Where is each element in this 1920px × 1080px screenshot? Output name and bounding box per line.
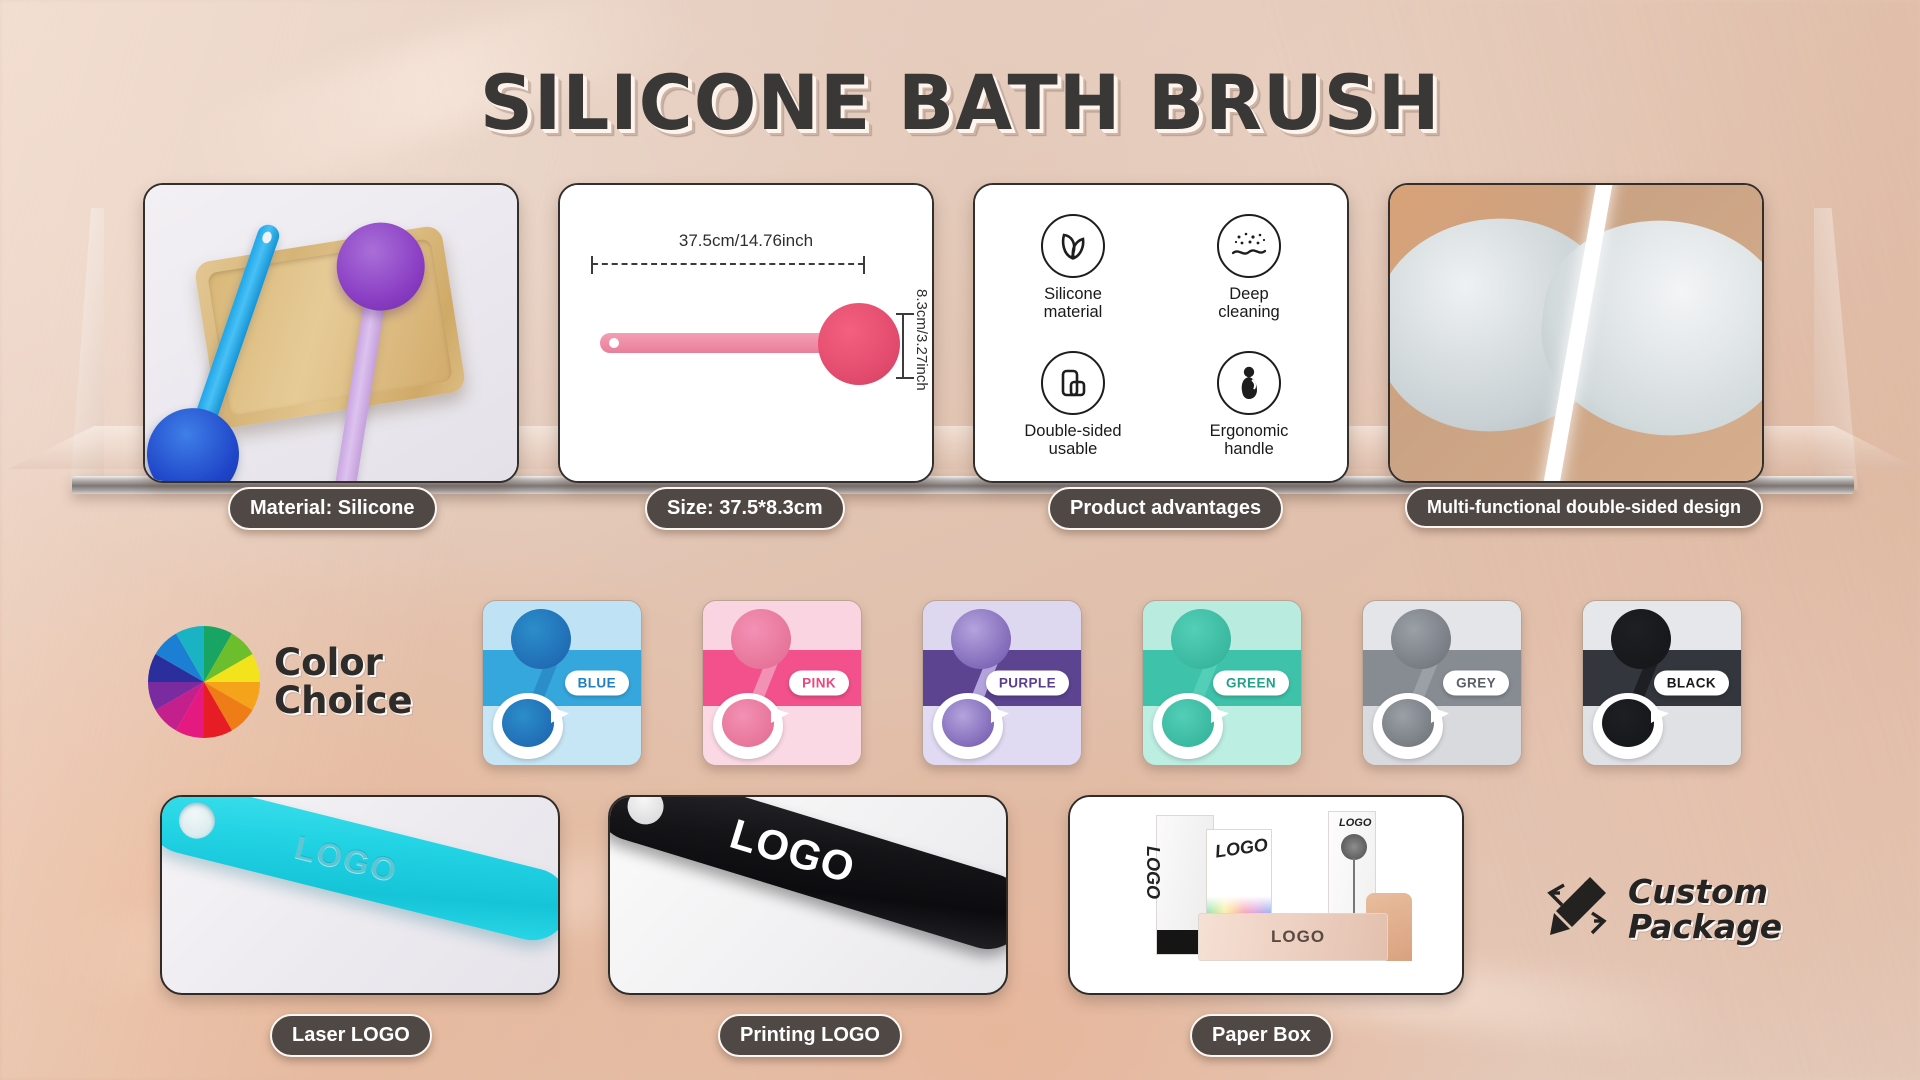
color-swatch-row: BLUEPINKPURPLEGREENGREYBLACK bbox=[0, 600, 1920, 770]
swatch-detail-bubble bbox=[1593, 693, 1663, 759]
swatch-brush-head bbox=[731, 609, 791, 669]
swatch-detail-brush bbox=[1382, 699, 1434, 747]
swatch-brush-head bbox=[1171, 609, 1231, 669]
swatch-label: GREEN bbox=[1213, 671, 1289, 696]
swatch-label: PINK bbox=[789, 671, 849, 696]
swatch-detail-brush bbox=[942, 699, 994, 747]
advantage-line2: usable bbox=[1049, 440, 1098, 458]
custom-package-block: Custom Package bbox=[1540, 855, 1870, 965]
advantage-line2: material bbox=[1044, 303, 1103, 321]
label-size: Size: 37.5*8.3cm bbox=[645, 487, 845, 530]
swatch-brush-head bbox=[511, 609, 571, 669]
box-logo-text: LOGO bbox=[1142, 846, 1163, 899]
paper-box-scene: LOGO LOGO LOGO LOGO bbox=[1070, 797, 1462, 993]
pencil-ruler-icon bbox=[1540, 871, 1614, 950]
swatch-label: BLACK bbox=[1654, 671, 1729, 696]
color-swatch-pink[interactable]: PINK bbox=[702, 600, 862, 766]
advantage-label: Deep cleaning bbox=[1218, 285, 1279, 322]
leaf-icon bbox=[1041, 214, 1105, 278]
box-logo-text: LOGO bbox=[1271, 927, 1325, 947]
length-dimension-label: 37.5cm/14.76inch bbox=[560, 231, 932, 251]
advantages-grid: Silicone material Deep bbox=[975, 185, 1347, 481]
swatch-detail-brush bbox=[722, 699, 774, 747]
feature-panel-size[interactable]: 37.5cm/14.76inch 8.3cm/3.27inch bbox=[558, 183, 934, 483]
advantage-line1: Ergonomic bbox=[1210, 422, 1289, 440]
feature-panel-row: 37.5cm/14.76inch 8.3cm/3.27inch Silic bbox=[0, 183, 1920, 488]
embossed-logo-text: LOGO bbox=[291, 828, 402, 890]
feature-panel-advantages[interactable]: Silicone material Deep bbox=[973, 183, 1349, 483]
swatch-label: GREY bbox=[1443, 671, 1509, 696]
hang-hole bbox=[623, 795, 668, 829]
person-icon bbox=[1217, 351, 1281, 415]
hang-hole bbox=[261, 230, 273, 244]
size-diagram: 37.5cm/14.76inch 8.3cm/3.27inch bbox=[560, 185, 932, 481]
split-bristle-photo bbox=[1390, 185, 1762, 481]
feature-panel-multifunction[interactable] bbox=[1388, 183, 1764, 483]
width-dimension-line bbox=[902, 313, 904, 379]
advantage-line1: Silicone bbox=[1044, 285, 1102, 303]
length-dimension-line bbox=[592, 263, 864, 265]
swatch-brush-head bbox=[951, 609, 1011, 669]
printed-logo-text: LOGO bbox=[725, 810, 861, 893]
feature-panel-material[interactable] bbox=[143, 183, 519, 483]
box-brush-graphic bbox=[1341, 834, 1367, 860]
color-swatch-black[interactable]: BLACK bbox=[1582, 600, 1742, 766]
advantage-ergonomic-handle: Ergonomic handle bbox=[1210, 351, 1289, 459]
black-handle: LOGO bbox=[608, 795, 1008, 959]
custom-package-heading: Custom Package bbox=[1628, 875, 1782, 945]
pink-brush-head bbox=[818, 303, 900, 385]
advantage-deep-cleaning: Deep cleaning bbox=[1217, 214, 1281, 322]
swatch-detail-brush bbox=[1162, 699, 1214, 747]
advantage-label: Ergonomic handle bbox=[1210, 422, 1289, 459]
swatch-detail-bubble bbox=[933, 693, 1003, 759]
label-laser-logo: Laser LOGO bbox=[270, 1014, 432, 1057]
custom-package-line2: Package bbox=[1628, 910, 1782, 945]
label-printing-logo: Printing LOGO bbox=[718, 1014, 902, 1057]
color-swatch-green[interactable]: GREEN bbox=[1142, 600, 1302, 766]
advantage-label: Double-sided usable bbox=[1024, 422, 1121, 459]
pink-brush-handle bbox=[600, 333, 832, 353]
advantage-line2: cleaning bbox=[1218, 303, 1279, 321]
page-title-wrap: SILICONE BATH BRUSH bbox=[0, 58, 1920, 147]
advantage-double-sided-usable: Double-sided usable bbox=[1024, 351, 1121, 459]
swatch-label: BLUE bbox=[565, 671, 629, 696]
swatch-detail-bubble bbox=[1373, 693, 1443, 759]
paper-box-4: LOGO bbox=[1198, 913, 1388, 961]
swatch-brush-head bbox=[1391, 609, 1451, 669]
material-photo bbox=[145, 185, 517, 481]
page-title: SILICONE BATH BRUSH bbox=[480, 58, 1441, 147]
advantage-line1: Double-sided bbox=[1024, 422, 1121, 440]
box-logo-text: LOGO bbox=[1339, 817, 1371, 829]
color-swatch-blue[interactable]: BLUE bbox=[482, 600, 642, 766]
label-material: Material: Silicone bbox=[228, 487, 437, 530]
label-paper-box: Paper Box bbox=[1190, 1014, 1333, 1057]
hang-hole bbox=[175, 799, 219, 843]
swatch-detail-brush bbox=[502, 699, 554, 747]
color-swatch-grey[interactable]: GREY bbox=[1362, 600, 1522, 766]
cyan-handle: LOGO bbox=[160, 795, 560, 948]
advantage-line2: handle bbox=[1224, 440, 1274, 458]
custom-package-line1: Custom bbox=[1628, 875, 1782, 910]
customization-card-printing[interactable]: LOGO bbox=[608, 795, 1008, 995]
dots-wave-icon bbox=[1217, 214, 1281, 278]
swatch-detail-bubble bbox=[493, 693, 563, 759]
advantage-line1: Deep bbox=[1229, 285, 1268, 303]
hang-hole bbox=[609, 338, 619, 348]
customization-card-paperbox[interactable]: LOGO LOGO LOGO LOGO bbox=[1068, 795, 1464, 995]
box-logo-text: LOGO bbox=[1214, 834, 1269, 862]
swatch-detail-brush bbox=[1602, 699, 1654, 747]
customization-card-laser[interactable]: LOGO bbox=[160, 795, 560, 995]
label-multifunction: Multi-functional double-sided design bbox=[1405, 487, 1763, 528]
color-swatch-purple[interactable]: PURPLE bbox=[922, 600, 1082, 766]
swatch-brush-head bbox=[1611, 609, 1671, 669]
advantage-label: Silicone material bbox=[1044, 285, 1103, 322]
width-dimension-label: 8.3cm/3.27inch bbox=[913, 289, 930, 391]
advantage-silicone-material: Silicone material bbox=[1041, 214, 1105, 322]
two-panels-icon bbox=[1041, 351, 1105, 415]
swatch-detail-bubble bbox=[1153, 693, 1223, 759]
swatch-detail-bubble bbox=[713, 693, 783, 759]
label-advantages: Product advantages bbox=[1048, 487, 1283, 530]
swatch-label: PURPLE bbox=[986, 671, 1069, 696]
